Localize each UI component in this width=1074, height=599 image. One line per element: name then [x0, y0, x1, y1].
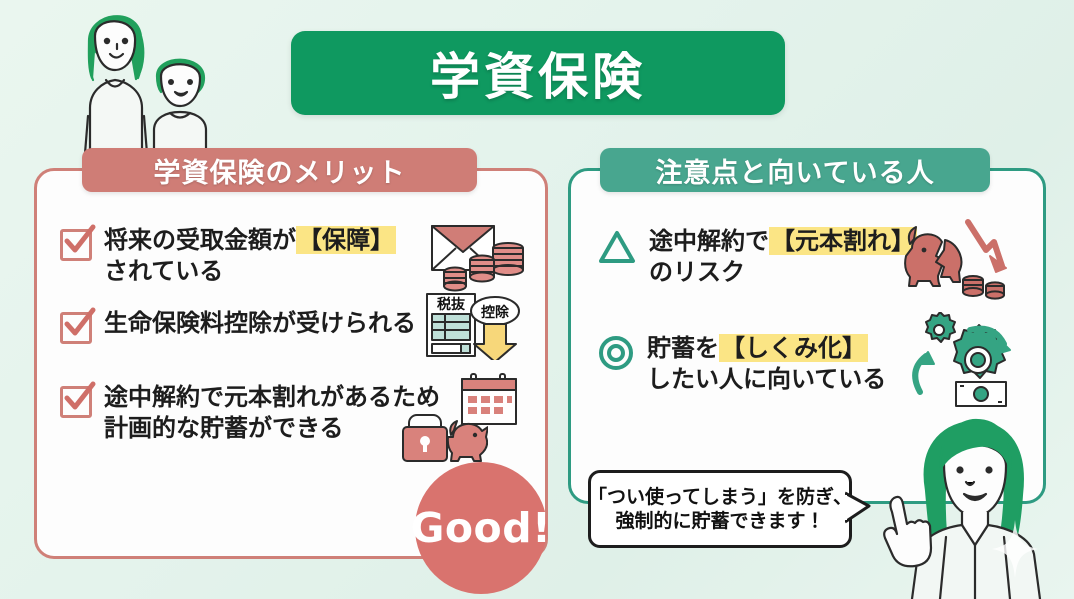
caution-item-2-line2: したい人に向いている: [647, 365, 886, 393]
merit-item-1-line2: されている: [104, 257, 223, 285]
mother-and-child-illustration: [62, 0, 237, 166]
presenter-woman-illustration: [848, 412, 1074, 599]
tax-excluded-label: 税抜: [437, 296, 466, 313]
merit-item-3-line2: 計画的な貯蓄ができる: [104, 414, 344, 442]
caution-item-2-line1-pre: 貯蓄を: [647, 334, 719, 362]
caution-item-1-text: 途中解約で【元本割れ】 のリスク: [649, 226, 917, 288]
caution-item-2: 貯蓄を【しくみ化】 したい人に向いている: [598, 333, 928, 395]
caution-item-1-line1-pre: 途中解約で: [649, 227, 769, 255]
tax-form-deduction-icon: 税抜 控除: [424, 292, 522, 360]
infographic-stage: 学資保険 学資保険のメリット 将来の受取金額が【保障】 されている: [0, 0, 1074, 599]
caution-item-1-highlight: 【元本割れ】: [769, 227, 917, 255]
double-circle-icon: [598, 335, 634, 371]
merit-item-1-highlight: 【保障】: [296, 226, 396, 254]
page-title: 学資保険: [430, 37, 646, 109]
merit-item-1: 将来の受取金額が【保障】 されている: [60, 225, 430, 287]
sparkle-icon: [992, 520, 1038, 578]
triangle-caution-icon: [598, 230, 636, 264]
caution-item-1-line2: のリスク: [649, 258, 745, 286]
envelope-coins-icon: [430, 220, 526, 294]
piggy-bank-lock-icon: [383, 405, 488, 463]
good-badge-label: Good!: [411, 504, 552, 552]
checkbox-checked-icon: [60, 309, 92, 341]
merits-card-header-label: 学資保険のメリット: [154, 151, 406, 190]
speech-bubble-line2: 強制的に貯蓄できます！: [615, 509, 824, 533]
merit-item-2: 生命保険料控除が受けられる: [60, 308, 430, 341]
merit-item-2-text: 生命保険料控除が受けられる: [104, 308, 416, 339]
speech-bubble: 「つい使ってしまう」を防ぎ、 強制的に貯蓄できます！: [588, 470, 852, 548]
page-title-banner: 学資保険: [291, 31, 785, 115]
deduction-label: 控除: [481, 304, 510, 321]
caution-item-2-text: 貯蓄を【しくみ化】 したい人に向いている: [647, 333, 886, 395]
caution-item-2-highlight: 【しくみ化】: [719, 334, 868, 362]
cautions-card-header: 注意点と向いている人: [600, 148, 990, 192]
merit-item-1-line1-pre: 将来の受取金額が: [104, 226, 296, 254]
checkbox-checked-icon: [60, 226, 92, 258]
checkbox-checked-icon: [60, 383, 92, 415]
gears-money-cycle-icon: [900, 312, 1012, 408]
cautions-card-header-label: 注意点と向いている人: [655, 151, 934, 190]
caution-item-1: 途中解約で【元本割れ】 のリスク: [598, 226, 918, 288]
broken-piggy-bank-decline-icon: [898, 218, 1008, 306]
merit-item-1-text: 将来の受取金額が【保障】 されている: [104, 225, 396, 287]
good-badge: Good!: [415, 462, 547, 594]
speech-bubble-line1: 「つい使ってしまう」を防ぎ、: [588, 485, 852, 509]
merits-card-header: 学資保険のメリット: [82, 148, 477, 192]
